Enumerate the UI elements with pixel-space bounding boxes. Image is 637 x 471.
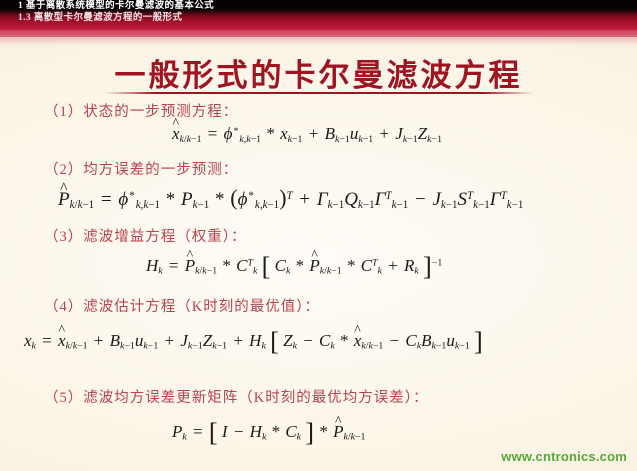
item-label-1: （1）状态的一步预测方程：: [44, 100, 238, 121]
equation-1: ^xk/k−1 = ϕ*k,k−1 * xk−1 + Bk−1uk−1 + Jk…: [172, 124, 442, 144]
header-chapter-title: 1 基于离散系统模型的卡尔曼滤波的基本公式: [18, 0, 214, 12]
header-section-title: 1.3 离散型卡尔曼滤波方程的一般形式: [18, 12, 182, 24]
item-label-5: （5）滤波均方误差更新矩阵（K时刻的最优均方误差）：: [44, 386, 428, 407]
item-label-2: （2）均方误差的一步预测：: [44, 158, 238, 179]
equation-3: Hk = ^Pk/k−1 * CTk [ Ck * ^Pk/k−1 * CTk …: [146, 252, 442, 282]
title-underline: [104, 92, 534, 94]
equation-2: ^Pk/k−1 = ϕ*k,k−1 * Pk−1 * (ϕ*k,k−1)T + …: [58, 186, 523, 211]
banner-gradient-fade: [0, 30, 637, 46]
page-title: 一般形式的卡尔曼滤波方程: [0, 50, 637, 95]
item-label-3: （3）滤波增益方程（权重）：: [44, 225, 247, 246]
equation-5: Pk = [ I − Hk * Ck ] * ^Pk/k−1: [172, 418, 365, 448]
slide-canvas: 1 基于离散系统模型的卡尔曼滤波的基本公式 1.3 离散型卡尔曼滤波方程的一般形…: [0, 0, 637, 471]
equation-4: xk = ^xk/k−1 + Bk−1uk−1 + Jk−1Zk−1 + Hk …: [24, 327, 483, 357]
item-label-4: （4）滤波估计方程（K时刻的最优值）：: [44, 295, 320, 316]
site-watermark: www.cntronics.com: [501, 449, 627, 464]
